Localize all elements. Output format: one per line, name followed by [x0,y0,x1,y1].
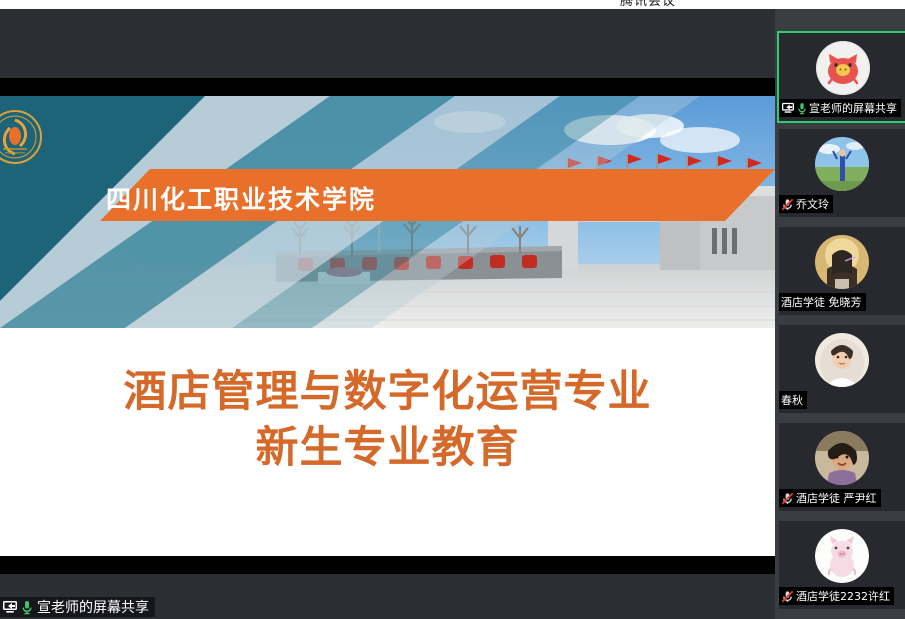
pig-avatar-icon [816,41,870,95]
participant-name: 乔文玲 [796,196,829,212]
letterbox-top [0,78,775,96]
mic-muted-icon [781,590,794,603]
participant-tile-3[interactable]: 春秋 [779,325,905,413]
participant-tile-1[interactable]: 乔文玲 [779,129,905,217]
pig-cartoon-avatar-icon [815,529,869,583]
screen-share-icon [2,600,18,614]
app-title-bar: 腾讯会议 [0,0,905,9]
person-photo-avatar-icon [815,431,869,485]
participant-rail[interactable]: 宣老师的屏幕共享 [775,9,905,619]
participant-name-row: 乔文玲 [779,195,833,213]
participant-tile-0[interactable]: 宣老师的屏幕共享 [777,31,905,123]
participant-name-row: 酒店学徒2232许红 [779,587,894,605]
mic-on-icon [21,600,33,615]
presentation-slide: 四川化工职业技术学院 酒店管理与数字化运营专业 新生专业教育 2022年9月 [0,96,775,556]
shared-screen-stage[interactable]: 四川化工职业技术学院 酒店管理与数字化运营专业 新生专业教育 2022年9月 [0,9,775,619]
screen-share-icon [781,102,795,114]
person-photo-avatar-icon [815,235,869,289]
slide-title: 酒店管理与数字化运营专业 新生专业教育 [0,364,775,476]
participant-name-row: 春秋 [779,391,807,409]
app-title: 腾讯会议 [620,0,676,9]
participant-name: 宣老师的屏幕共享 [809,100,897,116]
participant-name: 酒店学徒2232许红 [796,588,890,604]
person-photo-avatar-icon [815,333,869,387]
college-name: 四川化工职业技术学院 [106,180,376,216]
participant-name: 酒店学徒 严尹红 [796,490,877,506]
participant-name: 酒店学徒 免晓芳 [781,294,862,310]
mic-muted-icon [781,492,794,505]
letterbox-bottom [0,556,775,574]
participant-tile-2[interactable]: 酒店学徒 免晓芳 [779,227,905,315]
person-photo-avatar-icon [815,137,869,191]
participant-name-row: 宣老师的屏幕共享 [779,99,901,117]
participant-name: 春秋 [781,392,803,408]
participant-tile-5[interactable]: 酒店学徒2232许红 [779,521,905,609]
mic-on-icon [797,102,807,115]
participant-name-row: 酒店学徒 严尹红 [779,489,881,507]
participant-tile-4[interactable]: 酒店学徒 严尹红 [779,423,905,511]
presenter-status-bar: 宣老师的屏幕共享 [0,597,155,617]
slide-title-line-1: 酒店管理与数字化运营专业 [124,367,652,417]
mic-muted-icon [781,198,794,211]
college-seal-icon [0,108,44,166]
slide-title-line-2: 新生专业教育 [0,420,775,476]
meeting-window: 腾讯会议 [0,0,905,619]
presenter-status-label: 宣老师的屏幕共享 [37,597,149,617]
participant-name-row: 酒店学徒 免晓芳 [779,293,866,311]
